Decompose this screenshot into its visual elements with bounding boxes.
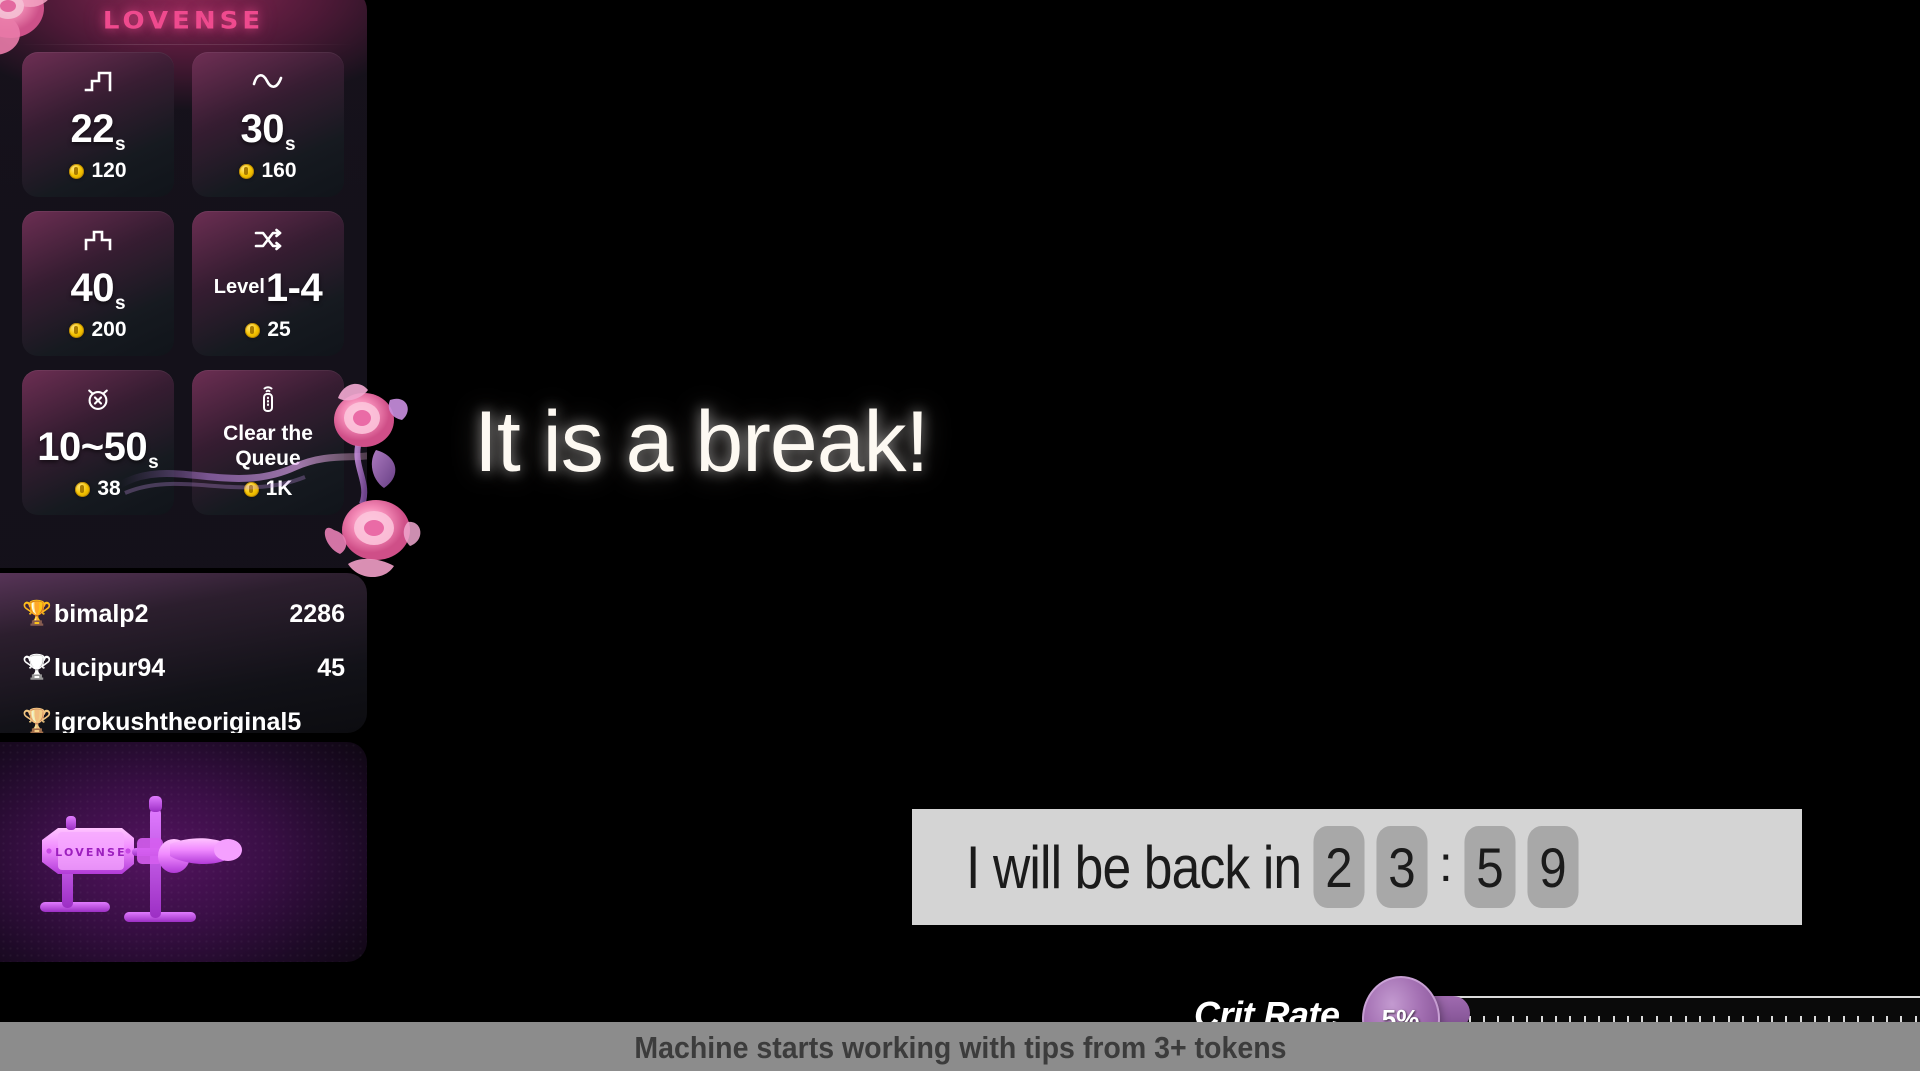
coin-icon bbox=[245, 323, 260, 338]
tile-cost-value: 160 bbox=[261, 159, 296, 183]
coin-icon bbox=[244, 482, 259, 497]
trophy-silver-icon: 🏆 bbox=[22, 656, 54, 680]
tile-cost: 120 bbox=[69, 159, 126, 197]
tile-value: 40 bbox=[70, 268, 114, 308]
leaderboard-name: igrokushtheoriginal5 bbox=[54, 708, 335, 734]
tile-main-value: 10~50 s bbox=[22, 416, 174, 477]
countdown-label: I will be back in bbox=[966, 833, 1301, 902]
coin-icon bbox=[239, 164, 254, 179]
alarm-off-icon bbox=[84, 382, 112, 416]
leaderboard-name: lucipur94 bbox=[54, 654, 307, 683]
tile-main-value: 30 s bbox=[192, 98, 344, 159]
tile-unit: s bbox=[148, 452, 159, 477]
tile-prefix: Level bbox=[214, 276, 265, 299]
countdown-digit-hour-ones: 3 bbox=[1376, 826, 1427, 908]
leaderboard-score: 2286 bbox=[289, 600, 345, 629]
svg-text:LOVENSE: LOVENSE bbox=[55, 846, 127, 859]
tile-cost-value: 120 bbox=[91, 159, 126, 183]
leaderboard-row: 🏆 bimalp2 2286 bbox=[22, 587, 345, 641]
tile-cost: 200 bbox=[69, 318, 126, 356]
tile-main-value: 22 s bbox=[22, 98, 174, 159]
lovense-logo: LOVENSE bbox=[103, 7, 264, 35]
step-wave-icon bbox=[83, 64, 113, 98]
action-tile-random-level[interactable]: Level 1-4 25 bbox=[192, 211, 344, 356]
panel-header: LOVENSE bbox=[0, 0, 367, 42]
countdown-digit-min-ones: 9 bbox=[1527, 826, 1578, 908]
shuffle-icon bbox=[253, 223, 283, 257]
coin-icon bbox=[69, 323, 84, 338]
tile-cost-value: 25 bbox=[267, 318, 290, 342]
countdown-banner: I will be back in 2 3 : 5 9 bbox=[912, 809, 1802, 925]
tile-cost: 38 bbox=[75, 477, 120, 515]
countdown-digit-hour-tens: 2 bbox=[1313, 826, 1364, 908]
tile-cost: 1K bbox=[244, 477, 293, 515]
header-divider bbox=[18, 44, 353, 45]
leaderboard-row: 🏆 lucipur94 45 bbox=[22, 641, 345, 695]
tile-text: Clear the Queue bbox=[192, 422, 344, 470]
tile-main-value: Clear the Queue bbox=[192, 416, 344, 477]
trophy-gold-icon: 🏆 bbox=[22, 602, 54, 626]
tile-cost-value: 200 bbox=[91, 318, 126, 342]
countdown-separator: : bbox=[1436, 835, 1456, 893]
action-tile-pulse-40s[interactable]: 40 s 200 bbox=[22, 211, 174, 356]
leaderboard-score: 45 bbox=[317, 654, 345, 683]
pulse-wave-icon bbox=[83, 223, 113, 257]
tile-value: 1-4 bbox=[266, 268, 322, 308]
coin-icon bbox=[69, 164, 84, 179]
lovense-control-panel: LOVENSE 22 s 120 bbox=[0, 0, 367, 568]
action-tile-grid: 22 s 120 30 s bbox=[22, 52, 344, 515]
tile-cost-value: 1K bbox=[266, 477, 293, 501]
tile-unit: s bbox=[285, 134, 296, 159]
tile-cost: 25 bbox=[245, 318, 290, 356]
action-tile-random-duration[interactable]: 10~50 s 38 bbox=[22, 370, 174, 515]
tile-value: 22 bbox=[70, 109, 114, 149]
tile-cost: 160 bbox=[239, 159, 296, 197]
tile-value: 30 bbox=[240, 109, 284, 149]
stream-overlay-stage: LOVENSE 22 s 120 bbox=[0, 0, 1920, 1071]
countdown-digit-min-tens: 5 bbox=[1464, 826, 1515, 908]
leaderboard-row: 🏆 igrokushtheoriginal5 bbox=[22, 695, 345, 733]
countdown-digits: 2 3 : 5 9 bbox=[1310, 826, 1582, 908]
action-tile-sine-30s[interactable]: 30 s 160 bbox=[192, 52, 344, 197]
tile-cost-value: 38 bbox=[97, 477, 120, 501]
leaderboard-panel: 🏆 bimalp2 2286 🏆 lucipur94 45 🏆 igrokush… bbox=[0, 573, 367, 733]
tile-main-value: Level 1-4 bbox=[192, 257, 344, 318]
coin-icon bbox=[75, 482, 90, 497]
tile-value: 10~50 bbox=[37, 427, 147, 467]
tile-unit: s bbox=[115, 293, 126, 318]
device-product-card: LOVENSE bbox=[0, 742, 367, 962]
bottom-info-banner: Machine starts working with tips from 3+… bbox=[0, 1022, 1920, 1071]
trophy-bronze-icon: 🏆 bbox=[22, 710, 54, 733]
sine-wave-icon bbox=[251, 64, 285, 98]
bottom-banner-text: Machine starts working with tips from 3+… bbox=[634, 1030, 1286, 1066]
remote-control-icon bbox=[256, 382, 280, 416]
action-tile-step-22s[interactable]: 22 s 120 bbox=[22, 52, 174, 197]
tile-unit: s bbox=[115, 134, 126, 159]
tile-main-value: 40 s bbox=[22, 257, 174, 318]
leaderboard-name: bimalp2 bbox=[54, 600, 279, 629]
break-message: It is a break! bbox=[474, 393, 928, 492]
action-tile-clear-queue[interactable]: Clear the Queue 1K bbox=[192, 370, 344, 515]
sex-machine-illustration: LOVENSE bbox=[18, 772, 348, 942]
